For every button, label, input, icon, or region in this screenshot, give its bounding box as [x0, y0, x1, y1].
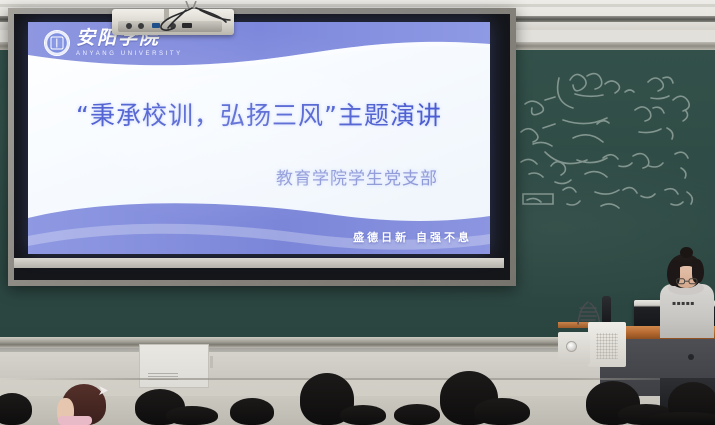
- university-seal-icon: [44, 30, 70, 56]
- projector-port-1: [126, 23, 132, 29]
- slide-subtitle: 教育学院学生党支部: [276, 164, 438, 189]
- audience-head: [166, 406, 218, 425]
- glasses-icon: [676, 272, 698, 279]
- ceiling-trim: [0, 4, 715, 7]
- slide-motto: 盛德日新 自强不息: [353, 229, 472, 245]
- wall-seam-line: [0, 378, 715, 380]
- screen-bottom-bar: [14, 258, 504, 268]
- console-dial[interactable]: [566, 341, 577, 352]
- audience-head: [340, 405, 386, 425]
- wall-slot: [210, 356, 213, 368]
- slide-title: “秉承校训，弘扬三风”主题演讲: [28, 96, 490, 132]
- hoodie-print: ▪︎▪︎▪︎▪︎▪︎: [672, 300, 702, 308]
- audience-collar: [58, 416, 92, 425]
- audience-shoulders: [650, 412, 715, 425]
- audience-head: [230, 398, 274, 425]
- classroom-photo: 安阳学院 ANYANG UNIVERSITY “秉承校训，弘扬三风”主题演讲 教…: [0, 0, 715, 425]
- person-at-podium: ▪︎▪︎▪︎▪︎▪︎: [656, 248, 715, 338]
- projected-slide[interactable]: 安阳学院 ANYANG UNIVERSITY “秉承校训，弘扬三风”主题演讲 教…: [28, 22, 490, 254]
- person-hair-bun: [680, 247, 693, 258]
- console-speaker-grille: [596, 333, 618, 359]
- audience-head: [474, 398, 530, 425]
- podium-lock-knob[interactable]: [688, 354, 694, 360]
- wall-mounted-panel[interactable]: [139, 344, 209, 388]
- audience-head: [394, 404, 440, 425]
- logo-english-name: ANYANG UNIVERSITY: [76, 51, 183, 57]
- slide-canvas: 安阳学院 ANYANG UNIVERSITY “秉承校训，弘扬三风”主题演讲 教…: [28, 22, 490, 254]
- audience-head: [0, 393, 32, 425]
- desk-microphone[interactable]: [602, 296, 611, 324]
- projector-cables: [138, 6, 248, 36]
- chalk-handwriting: [515, 62, 715, 252]
